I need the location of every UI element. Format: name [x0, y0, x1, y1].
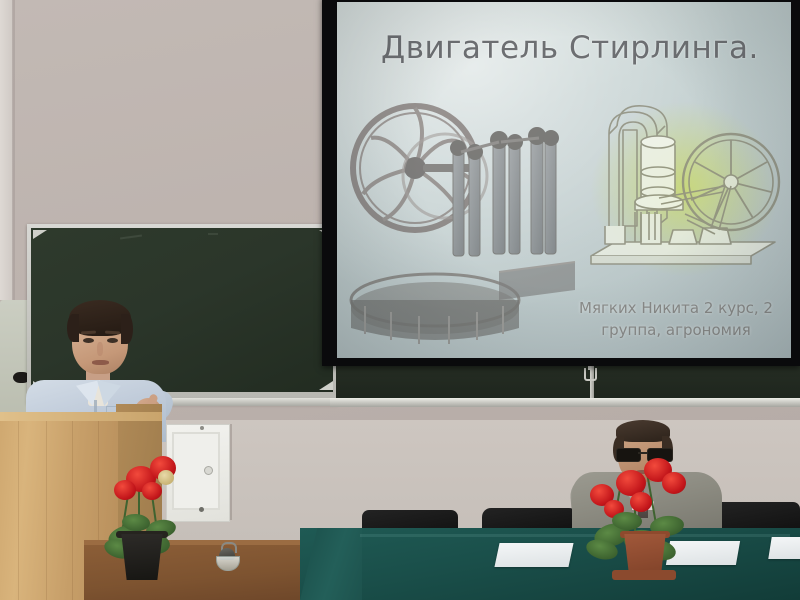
geranium-bloom [114, 480, 136, 500]
geranium-bloom [630, 492, 652, 512]
slide-author: Мягких Никита 2 курс, 2 группа, агрономи… [551, 298, 791, 342]
slide-author-line1: Мягких Никита 2 курс, 2 [551, 298, 791, 320]
chalk-smudge [208, 233, 218, 235]
tablecloth-highlight [360, 534, 790, 537]
pot-saucer [612, 570, 676, 580]
screw-icon [199, 507, 204, 512]
presenter-mouth [92, 360, 109, 365]
presenter-nose [97, 342, 103, 356]
geranium-bloom-faded [158, 470, 174, 485]
slide-author-line2: группа, агрономия [551, 320, 791, 342]
stirling-engine-diagram [585, 94, 785, 284]
presenter-eye [83, 338, 94, 343]
stirling-engine-photo [349, 94, 577, 344]
wall-corner-edge [12, 0, 15, 300]
geranium-bloom [662, 472, 686, 494]
paper-sheet-right[interactable] [768, 537, 800, 559]
slide-title: Двигатель Стирлинга. [381, 30, 781, 66]
geranium-bloom [142, 482, 162, 500]
board-hook-icon [584, 368, 597, 381]
podium-top-surface [0, 412, 162, 421]
projection-screen[interactable]: Двигатель Стирлинга. Мягких Никита 2 кур… [337, 2, 791, 358]
presenter-hair-side [67, 314, 79, 342]
chalk-tray-right [330, 398, 800, 407]
paper-sheet-left[interactable] [494, 543, 573, 567]
lecture-hall-photo: Двигатель Стирлинга. Мягких Никита 2 кур… [0, 0, 800, 600]
screw-icon [200, 426, 204, 430]
presenter-hair-side [121, 314, 133, 344]
presenter-eye [107, 338, 118, 343]
cabinet-latch-icon[interactable] [204, 466, 213, 475]
